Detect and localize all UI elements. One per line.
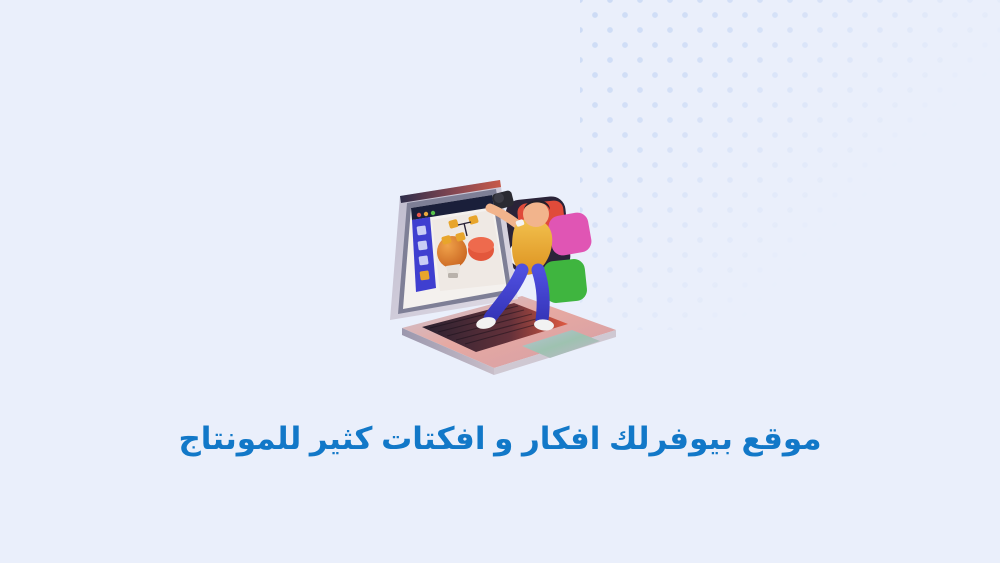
window-close-dot[interactable] <box>417 213 421 217</box>
select-tool-icon[interactable] <box>416 225 426 235</box>
dot-grid-pattern <box>580 0 1000 330</box>
window-minimize-dot[interactable] <box>424 212 428 216</box>
laptop-video-editing-3d-illustration <box>372 178 624 388</box>
text-tool-icon[interactable] <box>417 240 427 250</box>
promo-banner: موقع بيوفرلك افكار و افكتات كثير للمونتا… <box>0 0 1000 563</box>
window-maximize-dot[interactable] <box>431 211 435 215</box>
page-title: موقع بيوفرلك افكار و افكتات كثير للمونتا… <box>0 418 1000 460</box>
shape-tool-icon[interactable] <box>418 255 428 265</box>
character-leg-right <box>538 270 543 320</box>
illustration-svg <box>372 178 624 388</box>
color-tool-icon[interactable] <box>419 270 429 280</box>
card-pink <box>547 211 593 257</box>
